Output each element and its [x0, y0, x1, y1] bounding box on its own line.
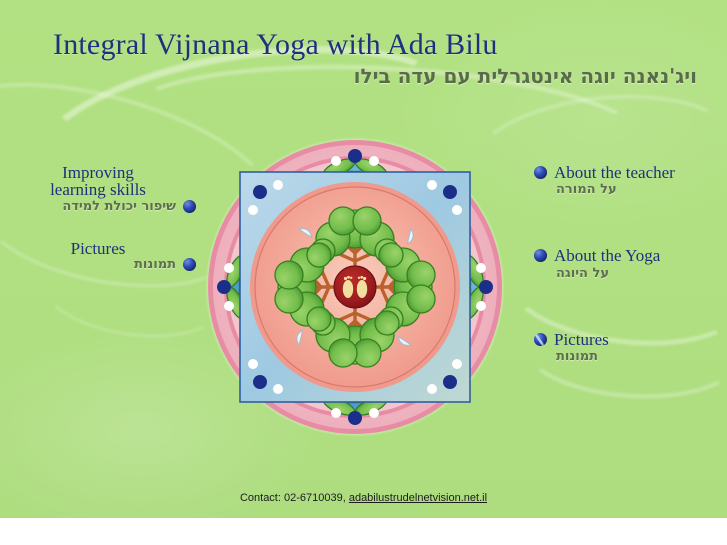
nav-label-en: Pictures — [0, 240, 196, 257]
nav-item-pictures-right[interactable]: Pictures תמונות — [534, 331, 727, 364]
footer-contact: Contact: 02-6710039, adabilustrudelnetvi… — [0, 492, 727, 504]
left-navigation: Improving learning skills שיפור יכולת למ… — [0, 164, 196, 276]
nav-item-about-the-teacher[interactable]: About the teacher על המורה — [534, 164, 727, 197]
page-title: Integral Vijnana Yoga with Ada Bilu — [0, 28, 727, 62]
nav-item-improving-learning-skills[interactable]: Improving learning skills שיפור יכולת למ… — [0, 164, 196, 214]
nav-label-he: תמונות — [534, 349, 727, 364]
blue-sphere-bullet-icon — [534, 166, 547, 179]
yoga-mandala-illustration[interactable] — [205, 137, 505, 437]
nav-label-he: שיפור יכולת למידה — [62, 199, 176, 214]
nav-label-en: About the teacher — [554, 164, 675, 181]
nav-item-about-the-yoga[interactable]: About the Yoga על היוגה — [534, 247, 727, 280]
nav-item-pictures-left[interactable]: Pictures תמונות — [0, 240, 196, 272]
contact-email-link[interactable]: adabilustrudelnetvision.net.il — [349, 492, 487, 504]
site-heading: Integral Vijnana Yoga with Ada Bilu ויג'… — [0, 28, 727, 88]
nav-label-en: Improving learning skills — [0, 164, 196, 199]
right-navigation: About the teacher על המורה About the Yog… — [534, 164, 727, 368]
footer-contact-label: Contact: 02-6710039, — [240, 492, 346, 504]
page-title-hebrew: ויג'נאנה יוגה אינטגרלית עם עדה בילו — [0, 64, 727, 88]
blue-sphere-bullet-icon — [534, 333, 547, 346]
nav-label-en: About the Yoga — [554, 247, 660, 264]
blue-sphere-bullet-icon — [183, 200, 196, 213]
blue-sphere-bullet-icon — [183, 258, 196, 271]
page-root: Integral Vijnana Yoga with Ada Bilu ויג'… — [0, 0, 727, 545]
nav-label-en: Pictures — [554, 331, 609, 348]
nav-label-he: על היוגה — [534, 266, 727, 281]
nav-label-he: על המורה — [534, 182, 727, 197]
nav-label-he: תמונות — [134, 257, 176, 272]
blue-sphere-bullet-icon — [534, 249, 547, 262]
